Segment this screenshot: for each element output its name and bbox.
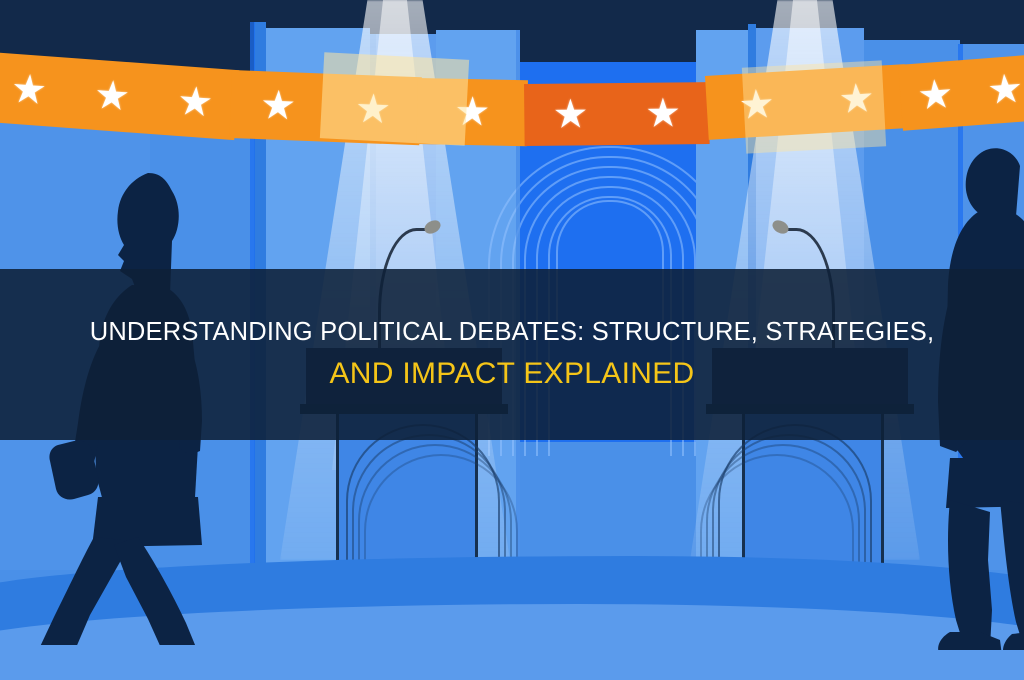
banner-star-icon: ★: [354, 89, 391, 130]
banner-star-icon: ★: [10, 69, 49, 112]
banner-star-icon: ★: [916, 74, 955, 117]
page-title-line-2: AND IMPACT EXPLAINED: [330, 357, 695, 391]
page-title-line-1: UNDERSTANDING POLITICAL DEBATES: STRUCTU…: [90, 318, 935, 347]
banner-star-icon: ★: [259, 85, 296, 126]
banner-segment-right: ★ ★: [898, 54, 1024, 131]
banner-segment-center-a: ★: [417, 78, 528, 146]
banner-star-icon: ★: [552, 94, 588, 134]
banner-star-icon: ★: [738, 84, 776, 126]
title-block: UNDERSTANDING POLITICAL DEBATES: STRUCTU…: [0, 269, 1024, 440]
banner-star-icon: ★: [454, 92, 491, 133]
banner-segment-center: ★ ★: [524, 82, 710, 146]
hero-illustration: ★ ★ ★ ★ ★ ★ ★ ★ ★ ★ ★ ★: [0, 0, 1024, 680]
banner-star-icon: ★: [645, 93, 681, 133]
banner-segment-left-center: ★ ★: [229, 70, 421, 145]
banner-segment-right-center: ★ ★: [705, 64, 908, 140]
banner-star-icon: ★: [93, 75, 132, 118]
banner-star-icon: ★: [176, 81, 215, 124]
banner-star-icon: ★: [986, 69, 1024, 112]
banner-star-icon: ★: [838, 78, 876, 120]
